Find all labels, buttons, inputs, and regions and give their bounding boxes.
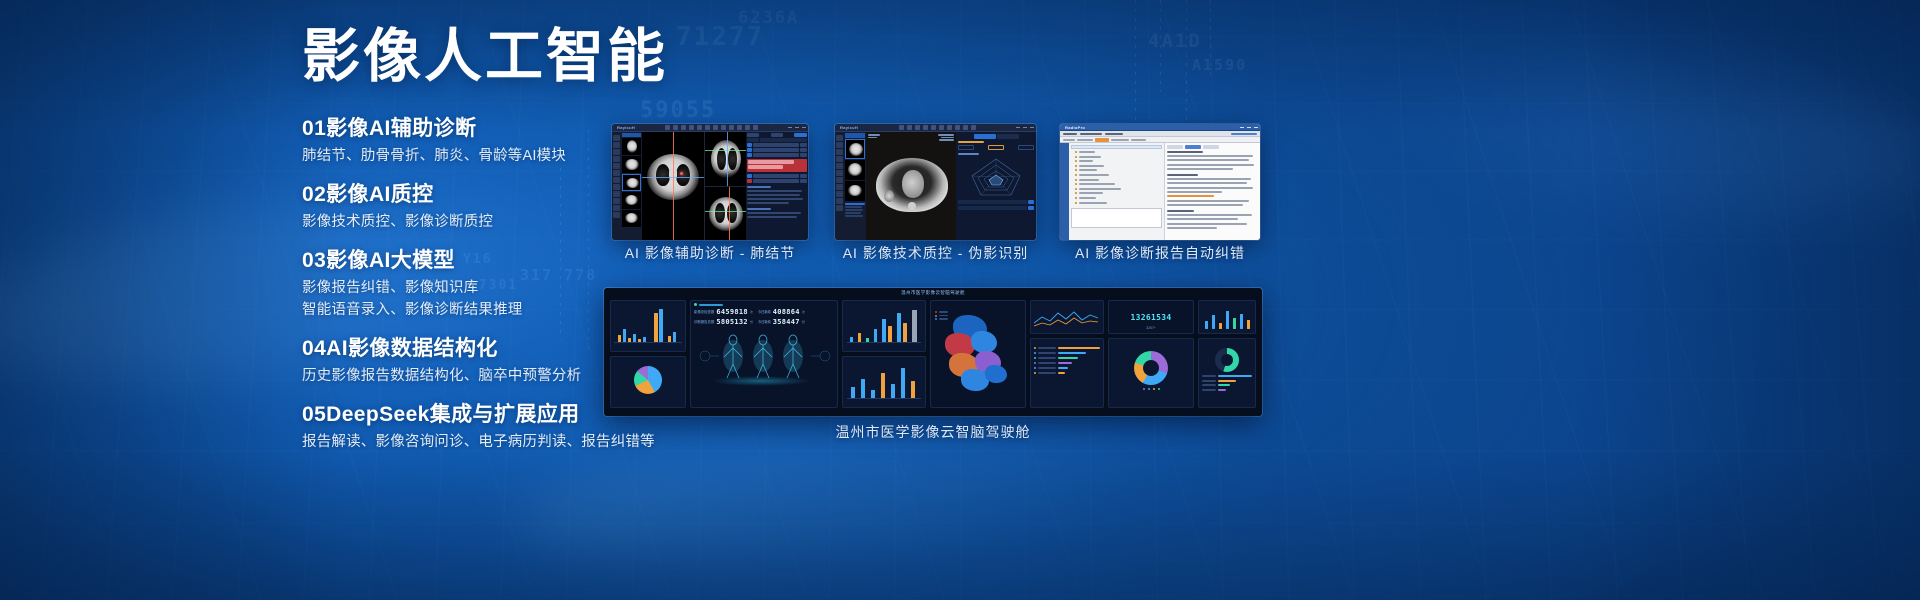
maximize-icon[interactable] [1023, 127, 1027, 128]
close-icon[interactable] [1030, 127, 1034, 128]
series-thumbnail[interactable] [845, 181, 865, 201]
app-logo: RadioPro [1062, 125, 1085, 130]
close-icon[interactable] [1254, 127, 1258, 128]
overlay-text-left [868, 134, 880, 138]
findings-row[interactable] [747, 179, 807, 183]
toolbar-icon[interactable] [729, 125, 734, 130]
menu-item[interactable] [1063, 133, 1077, 135]
findings-table[interactable] [747, 143, 807, 183]
dashboard-card-donut[interactable] [1108, 338, 1194, 408]
line-chart-svg [1031, 307, 1104, 329]
series-thumbnail[interactable] [622, 210, 641, 227]
metric-label: 今日新增 [758, 309, 771, 314]
series-thumbnail[interactable] [845, 160, 865, 180]
findings-row[interactable] [747, 148, 807, 152]
screenshot-ct-artifact-qc[interactable]: Raylcuft [835, 124, 1036, 240]
toolbar-icon[interactable] [915, 125, 920, 130]
app-body [612, 132, 808, 240]
feature-title: 04AI影像数据结构化 [302, 335, 722, 362]
mini-list-row[interactable] [1202, 375, 1252, 377]
tree-node[interactable] [1075, 165, 1162, 167]
qc-result-row[interactable] [958, 200, 1034, 204]
tree-node[interactable] [1075, 192, 1162, 194]
series-thumbnail[interactable] [622, 156, 641, 173]
mini-list-row[interactable] [1202, 384, 1252, 386]
report-tree-panel[interactable] [1069, 143, 1165, 240]
card-header [1109, 339, 1193, 345]
screenshot-caption: AI 影像诊断报告自动纠错 [1060, 243, 1260, 263]
toolbar-icon[interactable] [665, 125, 670, 130]
tree-node[interactable] [1075, 188, 1162, 190]
ranking-row[interactable] [1034, 357, 1100, 359]
toolbar-icon[interactable] [705, 125, 710, 130]
window-controls[interactable] [788, 127, 806, 128]
findings-panel[interactable] [746, 132, 808, 240]
toolbar-icons[interactable] [637, 125, 786, 130]
map-legend [935, 311, 948, 320]
tree-search-box[interactable] [1071, 145, 1162, 149]
feature-description-line: 影像报告纠错、影像知识库 [302, 278, 722, 300]
findings-row[interactable] [747, 153, 807, 157]
qc-tabs[interactable] [958, 134, 1034, 139]
toolbar-icon[interactable] [697, 125, 702, 130]
dashboard-card-line-chart[interactable] [1030, 300, 1104, 334]
thumbnail-list-header [845, 133, 865, 138]
map-region[interactable] [971, 331, 997, 353]
app-logo: Raylcuft [837, 125, 858, 130]
mini-list-row[interactable] [1202, 380, 1252, 382]
toolbar-icons[interactable] [860, 125, 1014, 130]
findings-tabs[interactable] [747, 133, 807, 137]
dashboard-card-counter[interactable]: 13261534 3267+ [1108, 300, 1194, 334]
menu-item[interactable] [1080, 133, 1102, 135]
toolbar-icon[interactable] [753, 125, 758, 130]
toolbar-icon[interactable] [673, 125, 678, 130]
findings-row[interactable] [747, 174, 807, 178]
qc-result-row[interactable] [958, 206, 1034, 210]
metric-label: 今日新增 [758, 319, 771, 324]
series-thumbnail-selected[interactable] [622, 174, 641, 191]
report-text-panel[interactable] [1165, 143, 1260, 240]
metric-unit: 份 [802, 320, 805, 324]
tree-node[interactable] [1075, 202, 1162, 204]
metric-unit: 份 [750, 320, 753, 324]
screenshot-report-correction[interactable]: RadioPro [1060, 124, 1260, 240]
tree-node[interactable] [1075, 197, 1162, 199]
feature-description: 影像报告纠错、影像知识库 智能语音录入、影像诊断结果推理 [302, 278, 722, 322]
toolbar-icon[interactable] [745, 125, 750, 130]
radar-chart-svg [958, 156, 1034, 198]
counter-block: 13261534 3267+ [1109, 307, 1193, 330]
ranking-row[interactable] [1034, 362, 1100, 364]
region-map[interactable] [931, 307, 1025, 401]
ranking-row[interactable] [1034, 347, 1100, 349]
toolbar-icon[interactable] [907, 125, 912, 130]
report-tabs[interactable] [1167, 145, 1258, 149]
toolbar-icon[interactable] [689, 125, 694, 130]
tree-node[interactable] [1075, 169, 1162, 171]
app-logo: Raylcuft [614, 125, 635, 130]
counter-value: 13261534 [1131, 313, 1172, 322]
qc-radar-chart [958, 156, 1034, 198]
ranking-row[interactable] [1034, 367, 1100, 369]
feature-description-line: 历史影像报告数据结构化、脑卒中预警分析 [302, 366, 722, 388]
tree-detail-box[interactable] [1071, 208, 1162, 228]
spine-region [908, 202, 916, 210]
qc-chart-title [958, 153, 979, 155]
series-thumbnail-selected[interactable] [845, 139, 865, 159]
series-thumbnail[interactable] [622, 138, 641, 155]
window-controls[interactable] [1240, 127, 1258, 128]
minimize-icon[interactable] [1016, 127, 1020, 128]
findings-row-alert[interactable] [747, 159, 807, 172]
ranking-list[interactable] [1031, 345, 1103, 376]
close-icon[interactable] [802, 127, 806, 128]
tree-node[interactable] [1075, 183, 1162, 185]
dashboard-card-mini-bars[interactable] [1198, 300, 1256, 334]
metric-value: 408864 [773, 308, 800, 316]
feature-description-line: 智能语音录入、影像诊断结果推理 [302, 300, 722, 322]
dashboard-card-list[interactable] [1030, 338, 1104, 408]
dashboard-card-ring-list[interactable] [1198, 338, 1256, 408]
screenshot-caption: AI 影像辅助诊断 - 肺结节 [612, 243, 808, 263]
progress-ring [1215, 348, 1239, 372]
window-controls[interactable] [1016, 127, 1034, 128]
dashboard-card-bar-chart-3[interactable] [842, 356, 926, 408]
findings-filter-row[interactable] [747, 138, 807, 142]
minimize-icon[interactable] [788, 127, 792, 128]
dashboard-card-map[interactable] [930, 300, 1026, 408]
toolbar-icon[interactable] [947, 125, 952, 130]
qc-result-rows[interactable] [958, 200, 1034, 210]
left-tool-rail[interactable] [612, 132, 621, 240]
ct-coronal-view[interactable] [704, 132, 746, 186]
app-titlebar: RadioPro [1060, 124, 1260, 131]
dashboard-card-bar-chart-2[interactable] [842, 300, 926, 352]
feature-description: 历史影像报告数据结构化、脑卒中预警分析 [302, 366, 722, 388]
nodule-marker[interactable] [680, 172, 683, 175]
toolbar-icon[interactable] [713, 125, 718, 130]
report-text-block [747, 186, 807, 218]
toolbar-icon[interactable] [681, 125, 686, 130]
toolbar-icon[interactable] [955, 125, 960, 130]
screenshot-caption: AI 影像技术质控 - 伪影识别 [835, 243, 1036, 263]
toolbar-button[interactable] [1077, 139, 1093, 141]
toolbar-icon[interactable] [939, 125, 944, 130]
app-titlebar: Raylcuft [612, 124, 808, 132]
thumbnail-list-header [622, 133, 641, 137]
toolbar-button[interactable] [1131, 139, 1146, 141]
artifact-marker [884, 190, 894, 202]
qc-score-panel[interactable] [956, 132, 1036, 240]
maximize-icon[interactable] [795, 127, 799, 128]
mini-list[interactable] [1199, 372, 1255, 394]
toolbar-icon[interactable] [931, 125, 936, 130]
toolbar-icon[interactable] [721, 125, 726, 130]
metric-unit: 次 [802, 310, 805, 314]
bar-chart [847, 307, 921, 343]
report-tree[interactable] [1071, 151, 1162, 204]
feature-item-04: 04AI影像数据结构化 历史影像报告数据结构化、脑卒中预警分析 [302, 335, 722, 388]
toolbar-button[interactable] [1063, 139, 1075, 141]
heart-region [902, 170, 924, 198]
side-rail[interactable] [1060, 143, 1069, 240]
toolbar-button-highlight[interactable] [1095, 138, 1109, 142]
toolbar-icon[interactable] [971, 125, 976, 130]
toolbar-icon[interactable] [923, 125, 928, 130]
tree-node[interactable] [1075, 160, 1162, 162]
toolbar-icon[interactable] [737, 125, 742, 130]
ct-reformat-views[interactable] [704, 132, 746, 240]
findings-row[interactable] [747, 143, 807, 147]
left-tool-rail[interactable] [835, 132, 844, 240]
app-body [1060, 143, 1260, 240]
toolbar-button[interactable] [1111, 139, 1129, 141]
toolbar-icon[interactable] [963, 125, 968, 130]
maximize-icon[interactable] [1247, 127, 1251, 128]
minimize-icon[interactable] [1240, 127, 1244, 128]
tree-node[interactable] [1075, 156, 1162, 158]
bar-chart [847, 363, 921, 399]
menu-item-active[interactable] [1231, 133, 1257, 135]
page-title: 影像人工智能 [302, 26, 722, 89]
ranking-row[interactable] [1034, 372, 1100, 374]
ct-axial-view[interactable] [642, 132, 704, 240]
series-thumbnail-list[interactable] [844, 132, 866, 240]
app-body [835, 132, 1036, 240]
toolbar-icon[interactable] [899, 125, 904, 130]
metric-value: 358447 [773, 318, 800, 326]
series-info-list [845, 203, 865, 217]
tree-node[interactable] [1075, 179, 1162, 181]
counter-suffix: 3267+ [1109, 326, 1193, 330]
overlay-text-right [938, 134, 954, 141]
qc-section-title [958, 141, 984, 143]
series-thumbnail[interactable] [622, 192, 641, 209]
app-titlebar: Raylcuft [835, 124, 1036, 132]
donut-chart [1134, 351, 1168, 385]
map-region[interactable] [985, 365, 1007, 383]
screenshot-ct-lung-nodule[interactable]: Raylcuft [612, 124, 808, 240]
report-body-lines [1167, 151, 1258, 229]
series-thumbnail-list[interactable] [621, 132, 642, 240]
ranking-row[interactable] [1034, 352, 1100, 354]
ct-artifact-view[interactable] [866, 132, 956, 240]
qc-filter-buttons[interactable] [958, 145, 1034, 150]
tree-node[interactable] [1075, 174, 1162, 176]
dashboard-caption: 温州市医学影像云智脑驾驶舱 [604, 422, 1262, 442]
donut-legend [1109, 388, 1193, 390]
ct-sagittal-view[interactable] [704, 186, 746, 240]
menu-item[interactable] [1105, 133, 1123, 135]
mini-bar-chart [1202, 307, 1252, 329]
metric-unit: 次 [750, 310, 753, 314]
mini-list-row[interactable] [1202, 389, 1252, 391]
card-header [1199, 339, 1255, 345]
tree-node[interactable] [1075, 151, 1162, 153]
